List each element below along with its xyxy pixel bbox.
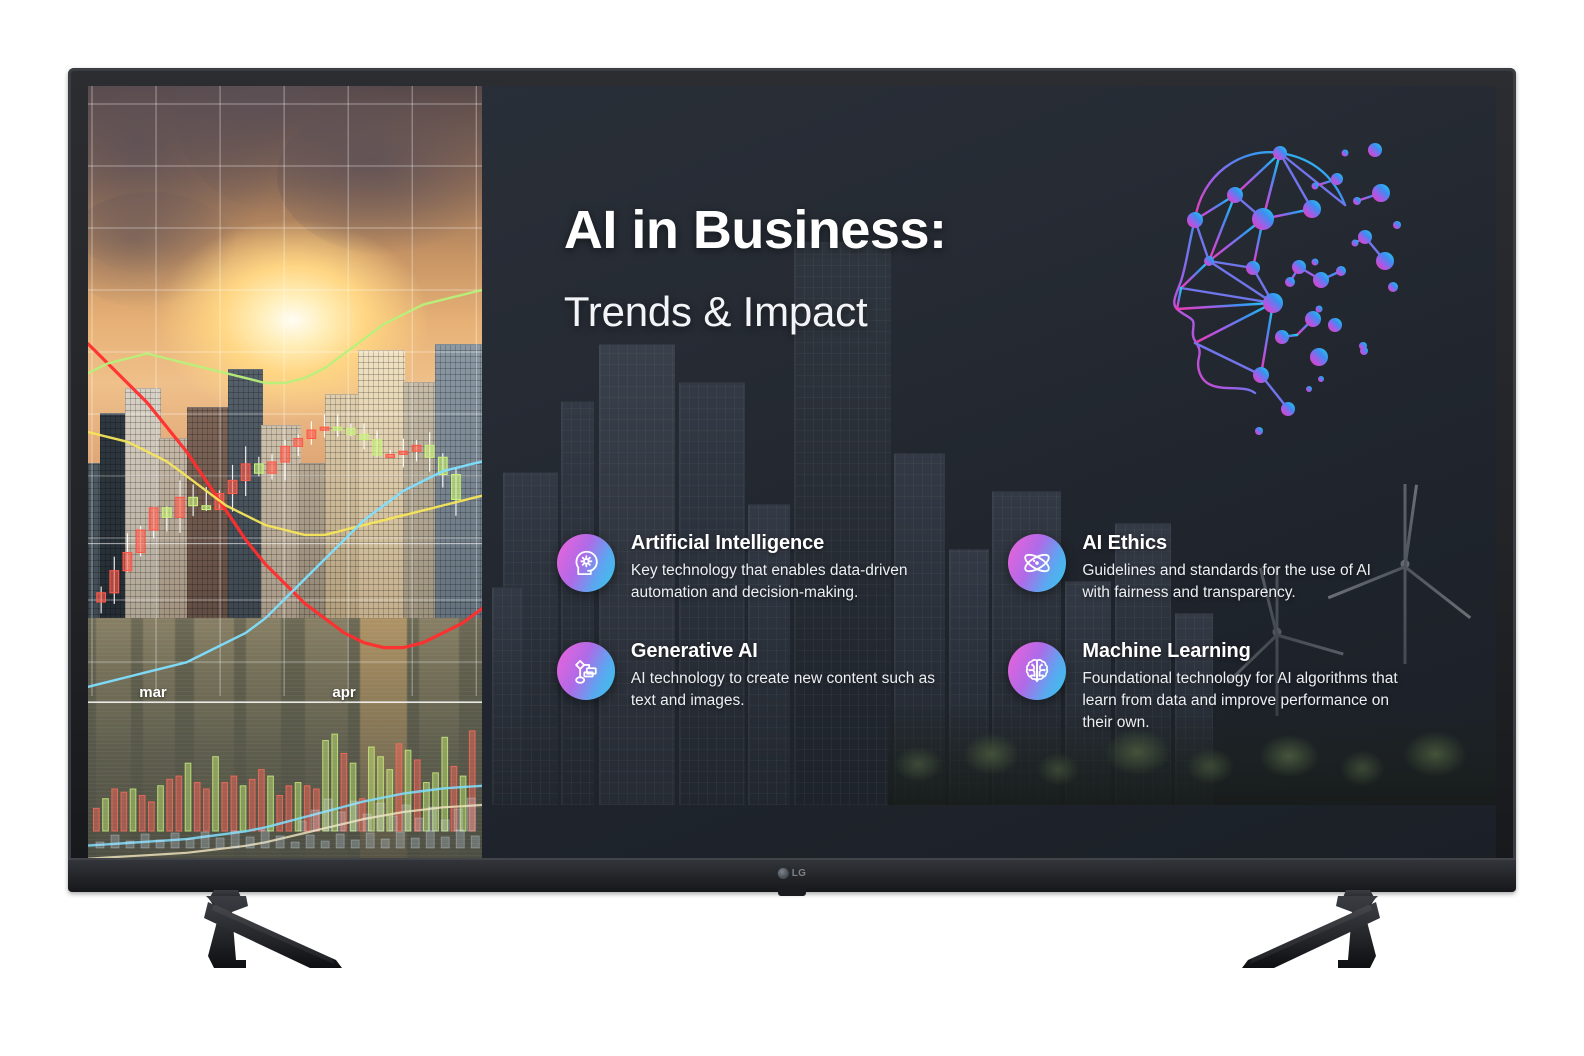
feature-card-title: AI Ethics <box>1082 532 1402 555</box>
feature-card-title: Generative AI <box>631 640 951 663</box>
tv-bottom-bezel: LG <box>68 858 1516 892</box>
lg-logo-text: LG <box>792 868 807 879</box>
tv-screen: AI in Business: Trends & Impact Artifi <box>88 86 1496 868</box>
feature-card-description: Guidelines and standards for the use of … <box>1082 560 1402 604</box>
feature-card-machine-learning[interactable]: Machine Learning Foundational technology… <box>1008 640 1429 734</box>
feature-card-text: AI Ethics Guidelines and standards for t… <box>1082 532 1402 604</box>
feature-card-ai-ethics[interactable]: AI Ethics Guidelines and standards for t… <box>1008 532 1429 604</box>
tv-stand-leg-left <box>96 890 356 970</box>
feature-card-text: Generative AI AI technology to create ne… <box>631 640 951 712</box>
feature-card-description: Foundational technology for AI algorithm… <box>1082 668 1402 734</box>
atom-icon <box>1008 534 1066 592</box>
node-flow-diagram-icon <box>557 642 615 700</box>
feature-card-generative-ai[interactable]: Generative AI AI technology to create ne… <box>557 640 978 734</box>
feature-card-text: Artificial Intelligence Key technology t… <box>631 532 951 604</box>
lg-logo-mark <box>778 868 789 879</box>
ir-receiver-nub <box>778 888 806 896</box>
x-axis-tick-apr: apr <box>332 684 355 701</box>
feature-card-description: Key technology that enables data-driven … <box>631 560 951 604</box>
financial-chart-panel: mar apr <box>88 86 482 868</box>
feature-card-text: Machine Learning Foundational technology… <box>1082 640 1402 734</box>
feature-card-artificial-intelligence[interactable]: Artificial Intelligence Key technology t… <box>557 532 978 604</box>
lg-brand-logo: LG <box>778 868 807 879</box>
feature-card-grid: Artificial Intelligence Key technology t… <box>557 532 1430 734</box>
stock-chart-overlay <box>88 86 482 868</box>
screenshot-root: AI in Business: Trends & Impact Artifi <box>0 0 1584 1056</box>
tv-stand-leg-right <box>1228 890 1488 970</box>
head-with-gear-icon <box>557 534 615 592</box>
slide-subtitle: Trends & Impact <box>564 288 868 336</box>
ai-head-network-icon <box>1149 113 1419 443</box>
brain-circuit-icon <box>1008 642 1066 700</box>
slide-title: AI in Business: <box>564 199 947 261</box>
feature-card-title: Machine Learning <box>1082 640 1402 663</box>
feature-card-title: Artificial Intelligence <box>631 532 951 555</box>
feature-card-description: AI technology to create new content such… <box>631 668 951 712</box>
x-axis-tick-mar: mar <box>139 684 167 701</box>
